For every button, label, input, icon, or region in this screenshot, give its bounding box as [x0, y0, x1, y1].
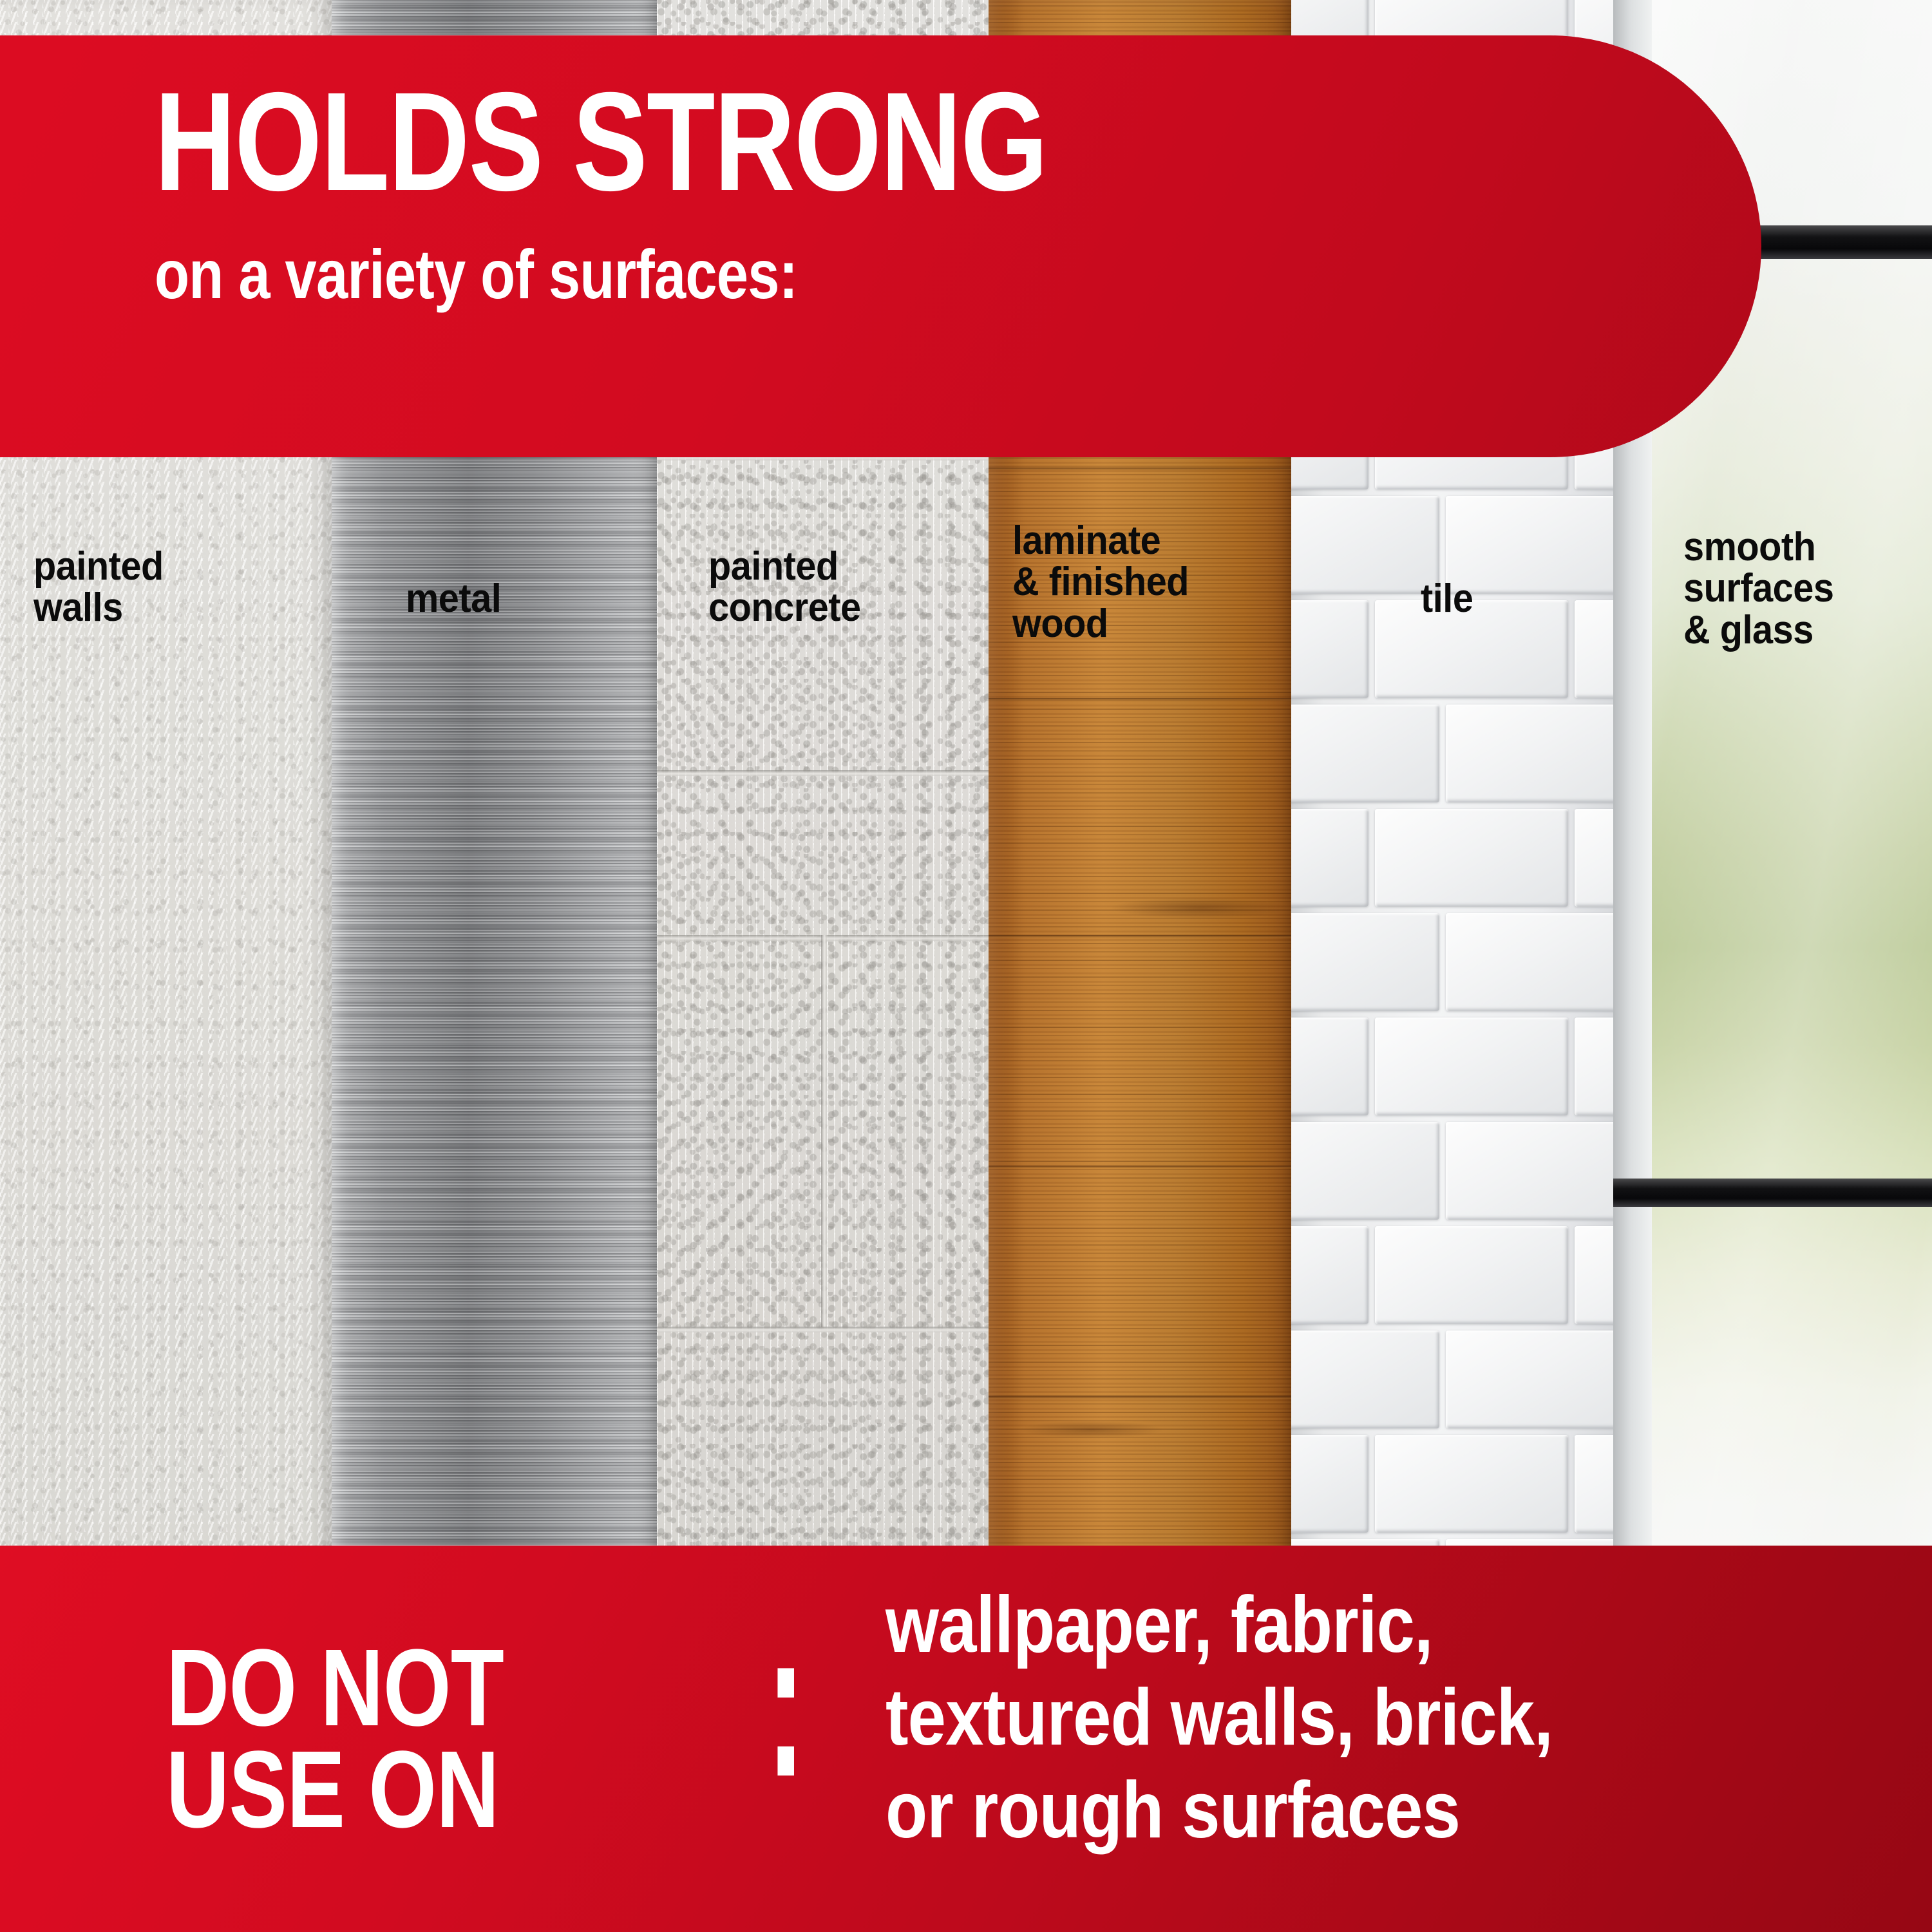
tile-piece: [1575, 1226, 1613, 1324]
do-not-use-colon: :: [766, 1596, 805, 1808]
tile-piece: [1575, 1018, 1613, 1115]
surface-label-painted-walls: painted walls: [33, 546, 164, 629]
tile-piece: [1291, 496, 1439, 594]
do-not-use-heading-text: DO NOT USE ON: [166, 1627, 504, 1851]
window-frame-bar: [1613, 1179, 1932, 1207]
surface-label-smooth-glass: smooth surfaces & glass: [1683, 527, 1833, 651]
tile-piece: [1291, 913, 1439, 1011]
product-surface-infographic: HOLDS STRONG on a variety of surfaces: p…: [0, 0, 1932, 1932]
surface-label-tile: tile: [1421, 578, 1473, 620]
tile-piece: [1291, 705, 1439, 802]
tile-piece: [1291, 600, 1368, 698]
header-subtitle: on a variety of surfaces:: [155, 240, 1293, 309]
holds-strong-banner: HOLDS STRONG on a variety of surfaces:: [0, 35, 1761, 457]
tile-piece: [1291, 1226, 1368, 1324]
tile-piece: [1291, 1122, 1439, 1220]
mortar-joint: [657, 770, 989, 776]
tile-piece: [1575, 600, 1613, 698]
tile-piece: [1291, 809, 1368, 907]
excluded-surfaces-list: wallpaper, fabric, textured walls, brick…: [885, 1579, 1553, 1857]
tile-piece: [1291, 1435, 1368, 1533]
tile-piece: [1375, 809, 1568, 907]
mortar-joint: [657, 1327, 989, 1332]
tile-piece: [1375, 1018, 1568, 1115]
tile-piece: [1446, 705, 1613, 802]
plank-seam: [989, 698, 1291, 701]
tile-piece: [1291, 1018, 1368, 1115]
surface-label-laminate-wood: laminate & finished wood: [1012, 520, 1189, 645]
mortar-joint-vertical: [821, 935, 827, 1327]
tile-piece: [1575, 1435, 1613, 1533]
do-not-use-heading: DO NOT USE ON: [166, 1637, 504, 1841]
plank-seam: [989, 468, 1291, 470]
tile-piece: [1446, 1122, 1613, 1220]
tile-piece: [1446, 1331, 1613, 1428]
plank-seam: [989, 1166, 1291, 1168]
header-text-block: HOLDS STRONG on a variety of surfaces:: [155, 75, 1542, 309]
tile-piece: [1375, 1435, 1568, 1533]
surface-label-painted-concrete: painted concrete: [708, 546, 861, 629]
page-title: HOLDS STRONG: [155, 75, 1265, 209]
surface-label-metal: metal: [406, 578, 501, 620]
tile-piece: [1446, 913, 1613, 1011]
plank-seam: [989, 1396, 1291, 1399]
tile-piece: [1291, 1331, 1439, 1428]
plank-seam: [989, 935, 1291, 938]
tile-piece: [1375, 1226, 1568, 1324]
tile-piece: [1575, 809, 1613, 907]
